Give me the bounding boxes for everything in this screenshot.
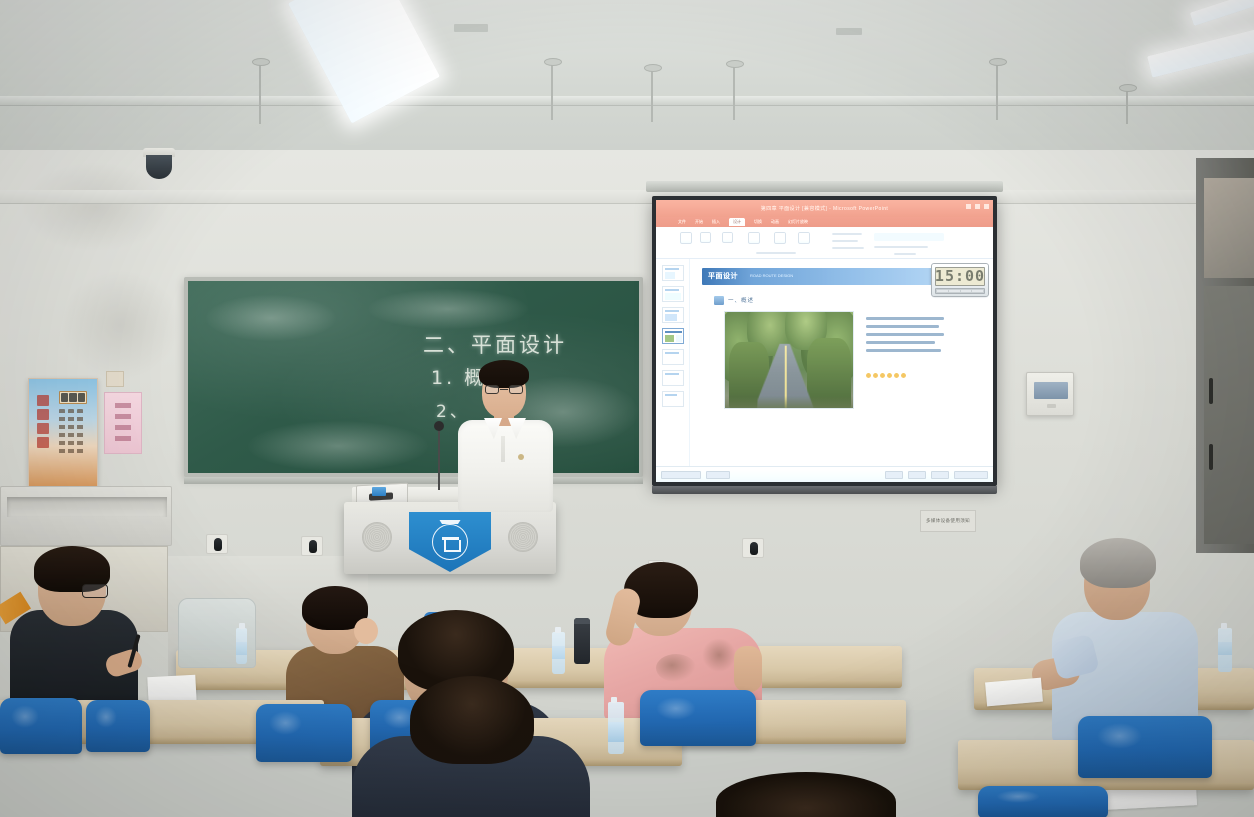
slide-body-text — [866, 317, 944, 357]
ceiling-hanger-rod — [1126, 88, 1128, 124]
chair[interactable] — [978, 786, 1108, 817]
door-glass-lower — [1204, 286, 1254, 544]
thermos-flask — [574, 618, 590, 664]
wall-notice-sign: 多媒体设备使用须知 — [920, 510, 976, 532]
control-panel-display — [1034, 382, 1068, 399]
wall-speaker-icon — [206, 534, 228, 554]
slide-inline-icons — [866, 372, 944, 379]
wall-speaker-icon — [742, 538, 764, 558]
slide-bullet-icon — [714, 296, 724, 305]
poster-vertical-text — [59, 409, 89, 455]
arrange-icon[interactable] — [798, 232, 810, 244]
classroom-scene: 二、平面设计 1. 概述 2、 第四章 平面设计 [兼容模式] - Micros… — [0, 0, 1254, 817]
presenter-collar — [484, 418, 526, 440]
presenter-shirt-placket — [501, 436, 505, 462]
chair[interactable] — [640, 690, 756, 746]
slide-title: 平面设计 — [708, 271, 738, 281]
emblem-roof-glyph — [440, 520, 461, 524]
attendee-hair — [716, 772, 896, 817]
slide-title-subtitle: ROAD ROUTE DESIGN — [750, 273, 793, 278]
blackboard-line-1: 二、平面设计 — [423, 329, 567, 359]
door-handle[interactable] — [1209, 378, 1213, 404]
blackboard: 二、平面设计 1. 概述 2、 — [184, 277, 643, 477]
attendee-front-center — [352, 676, 592, 817]
av-control-panel[interactable] — [1026, 372, 1074, 416]
timer-button-row[interactable] — [935, 288, 985, 294]
attendee-glasses — [82, 584, 108, 598]
wall-note-small — [106, 371, 124, 387]
desk-item-cup — [372, 487, 386, 496]
window-controls[interactable] — [966, 204, 989, 209]
wall-speaker-icon — [301, 536, 323, 556]
ribbon-tab-transitions[interactable]: 切换 — [754, 219, 762, 225]
projection-screen-roller — [646, 181, 1003, 192]
attendee-arm — [734, 646, 762, 692]
bottle-label — [1218, 642, 1232, 655]
wall-sign-text: 多媒体设备使用须知 — [926, 518, 970, 524]
slide-thumbnail-panel[interactable] — [656, 259, 690, 466]
projected-image: 第四章 平面设计 [兼容模式] - Microsoft PowerPoint 文… — [656, 200, 993, 482]
microphone-head — [434, 421, 444, 431]
microphone-icon — [438, 428, 440, 490]
camera-dome-glass — [146, 155, 172, 179]
wall-poster-values — [28, 378, 98, 488]
shapes-icon[interactable] — [774, 232, 786, 244]
emblem-gate-glyph — [442, 534, 459, 550]
wall-poster-pink — [104, 392, 142, 454]
zoom-slider[interactable] — [954, 471, 988, 479]
slide-thumbnail[interactable] — [662, 307, 684, 323]
ribbon-tab-design[interactable]: 设计 — [729, 218, 745, 226]
water-bottle — [236, 628, 247, 664]
slide-thumbnail[interactable] — [662, 370, 684, 386]
emblem-seal-ring — [432, 524, 468, 560]
shelf-recess — [7, 497, 167, 517]
ribbon-option-row[interactable] — [832, 240, 858, 242]
bottle-label — [552, 646, 565, 659]
university-emblem-icon — [409, 512, 491, 572]
ribbon-tab-home[interactable]: 开始 — [695, 219, 703, 225]
ribbon-tab-file[interactable]: 文件 — [678, 219, 686, 225]
water-bottle — [552, 632, 565, 674]
chair[interactable] — [0, 698, 82, 754]
paste-icon[interactable] — [680, 232, 692, 244]
security-camera-icon — [143, 148, 175, 168]
timer-start-button — [937, 290, 948, 292]
chalk-tray — [184, 477, 643, 484]
wall-stain — [60, 270, 180, 380]
timer-lcd-screen: 15:00 — [935, 267, 985, 286]
ceiling-hanger-rod — [651, 68, 653, 122]
presenter — [452, 358, 560, 508]
powerpoint-statusbar[interactable] — [656, 466, 993, 482]
slide-photo-road — [724, 311, 854, 409]
handout-paper — [985, 678, 1043, 707]
blouse-floral-print — [656, 654, 696, 682]
control-panel-button[interactable] — [1047, 404, 1056, 408]
powerpoint-titlebar: 第四章 平面设计 [兼容模式] - Microsoft PowerPoint — [656, 200, 993, 217]
ribbon-option-row[interactable] — [874, 246, 928, 248]
timer-mode-button — [972, 290, 983, 292]
ceiling-hanger-rod — [996, 62, 998, 120]
ceiling-hanger-rod — [733, 64, 735, 120]
attendee-foreground-right — [716, 772, 896, 817]
layout-icon[interactable] — [722, 232, 733, 243]
attendee-gray-hair — [1080, 538, 1156, 588]
ribbon-group-label — [894, 253, 916, 255]
maximize-icon — [975, 204, 980, 209]
ribbon-toolbar[interactable] — [656, 227, 993, 259]
bottle-label — [608, 722, 624, 742]
view-reading-button[interactable] — [931, 471, 949, 479]
podium-speaker-left — [362, 522, 392, 552]
podium-speaker-right — [508, 522, 538, 552]
ribbon-option-row[interactable] — [832, 233, 862, 235]
chair[interactable] — [1078, 716, 1212, 778]
bottle-label — [236, 642, 247, 655]
ribbon-tab-insert[interactable]: 插入 — [712, 219, 720, 225]
door-handle-lower[interactable] — [1209, 444, 1213, 470]
timer-pause-button — [949, 290, 960, 292]
ribbon-tab-animations[interactable]: 动画 — [771, 219, 779, 225]
water-bottle — [608, 702, 624, 754]
poster-title-characters — [37, 395, 51, 448]
projection-screen-weight-bar — [652, 486, 997, 494]
lectern-podium — [344, 502, 556, 574]
minimize-icon — [966, 204, 971, 209]
wall-stain — [20, 162, 170, 252]
presenter-glasses — [485, 385, 523, 394]
blouse-floral-print — [702, 638, 736, 672]
ceiling-beam — [0, 96, 1254, 106]
fluorescent-tube-light — [1190, 0, 1254, 26]
projection-screen[interactable]: 第四章 平面设计 [兼容模式] - Microsoft PowerPoint 文… — [652, 196, 997, 486]
powerpoint-title: 第四章 平面设计 [兼容模式] - Microsoft PowerPoint — [761, 205, 888, 212]
wall-trim-band — [0, 190, 1254, 204]
attendee-hair — [410, 676, 534, 764]
fluorescent-tube-light — [1147, 28, 1254, 77]
water-bottle — [1218, 628, 1232, 672]
chair[interactable] — [86, 700, 150, 752]
ribbon-tab-strip[interactable]: 文件 开始 插入 设计 切换 动画 幻灯片放映 — [656, 217, 993, 227]
ribbon-group-label — [756, 252, 796, 254]
ceiling-hanger-rod — [551, 62, 553, 120]
door-glass-upper — [1204, 178, 1254, 278]
ribbon-tab-slideshow[interactable]: 幻灯片放映 — [788, 219, 808, 225]
attendee-front-left — [10, 548, 140, 718]
chair[interactable] — [256, 704, 352, 762]
slide-thumbnail[interactable] — [662, 391, 684, 407]
presenter-hair — [479, 360, 529, 388]
status-language — [706, 471, 730, 479]
timer-reset-button — [961, 290, 972, 292]
presenter-shirt-logo — [518, 454, 524, 460]
slide-thumbnail[interactable] — [662, 349, 684, 365]
font-icon[interactable] — [748, 232, 760, 244]
new-slide-icon[interactable] — [700, 232, 711, 243]
view-sorter-button[interactable] — [908, 471, 926, 479]
countdown-timer[interactable]: 15:00 — [931, 263, 989, 297]
view-normal-button[interactable] — [885, 471, 903, 479]
close-icon — [984, 204, 989, 209]
timer-display: 15:00 — [935, 269, 985, 284]
ceiling-hanger-rod — [259, 62, 261, 124]
attendee-right — [1040, 540, 1200, 740]
slide-thumbnail[interactable] — [662, 265, 684, 281]
poster-banner — [59, 391, 87, 404]
slide-thumbnail-active[interactable] — [662, 328, 684, 344]
ribbon-option-row[interactable] — [832, 247, 864, 249]
status-slide-count — [661, 471, 701, 479]
wall-shelf — [0, 486, 172, 546]
ceiling-vent — [836, 28, 862, 35]
slide-section-label: 一、概述 — [728, 296, 754, 304]
blackboard-surface: 二、平面设计 1. 概述 2、 — [188, 281, 639, 473]
ribbon-gallery[interactable] — [874, 233, 944, 241]
ceiling-vent — [454, 24, 488, 32]
slide-thumbnail[interactable] — [662, 286, 684, 302]
slide-editing-area[interactable]: 平面设计 ROAD ROUTE DESIGN 15:00 — [690, 259, 993, 466]
